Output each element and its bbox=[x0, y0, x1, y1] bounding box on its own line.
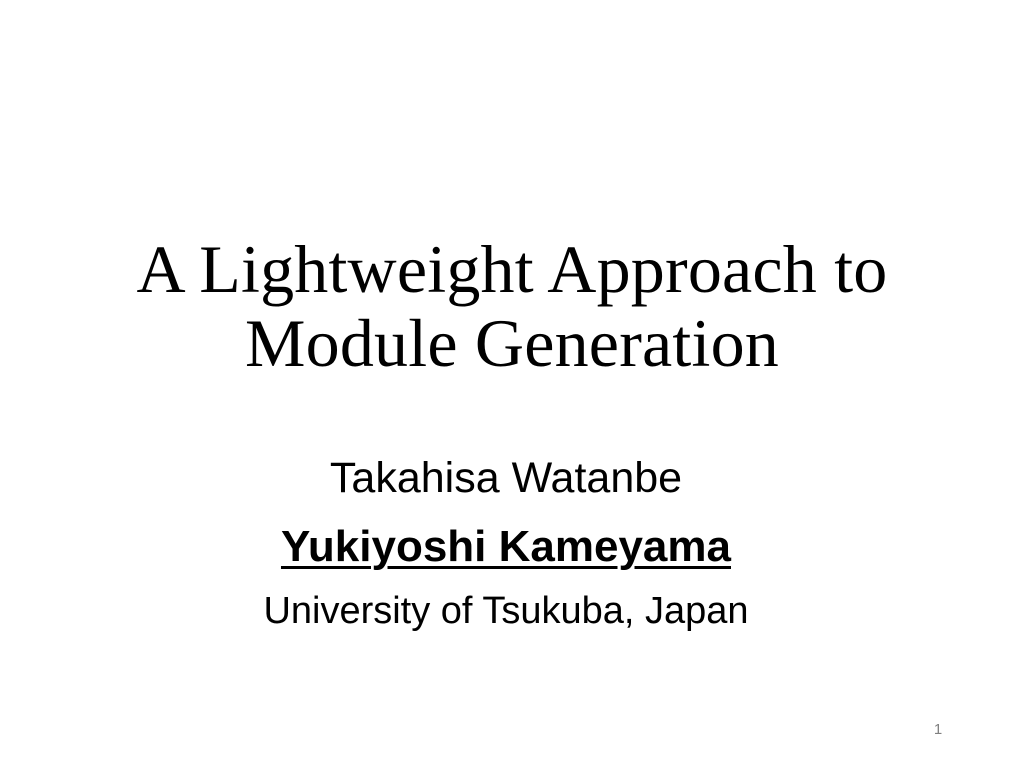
slide-number: 1 bbox=[900, 720, 976, 740]
author-name-presenter: Yukiyoshi Kameyama bbox=[106, 522, 906, 572]
author-name-primary: Takahisa Watanbe bbox=[106, 452, 906, 504]
subtitle-placeholder: Takahisa Watanbe Yukiyoshi Kameyama Univ… bbox=[106, 452, 906, 634]
title-placeholder: A Lightweight Approach to Module Generat… bbox=[72, 232, 952, 380]
presentation-slide: A Lightweight Approach to Module Generat… bbox=[0, 0, 1024, 768]
page-title: A Lightweight Approach to Module Generat… bbox=[72, 232, 952, 380]
affiliation-text: University of Tsukuba, Japan bbox=[106, 588, 906, 634]
